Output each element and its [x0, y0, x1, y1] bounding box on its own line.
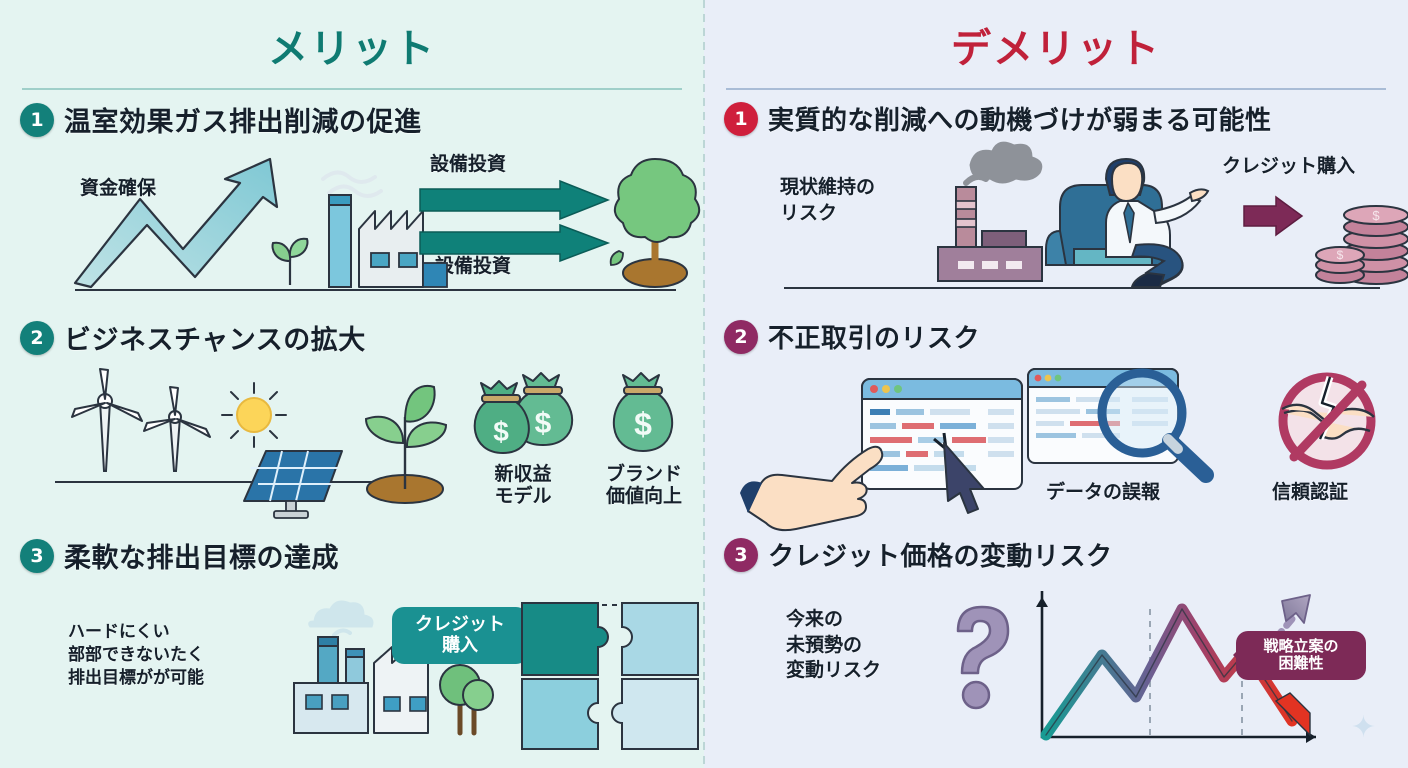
question-mark-icon	[948, 603, 1018, 711]
arrow-right-icon	[420, 225, 610, 261]
label-brand-line2: 価値向上	[582, 485, 706, 507]
svg-text:$: $	[535, 407, 552, 440]
label-volatility-line2: 未預勢の	[786, 633, 881, 659]
svg-text:$: $	[493, 416, 509, 447]
sparkle-icon: ✦	[1351, 710, 1376, 745]
bubble-nib	[1225, 647, 1241, 663]
demerit-item-3: 3 クレジット価格の変動リスク 今来の 未預勢の 変動リスク	[724, 536, 1390, 759]
panel-title-merit: メリット	[0, 16, 704, 74]
label-volatility-note: 今来の 未預勢の 変動リスク	[786, 607, 881, 684]
ground-line	[784, 287, 1380, 289]
demerit-item-2-badge: 2	[724, 320, 758, 354]
label-new-revenue: 新収益 モデル	[468, 463, 578, 508]
tree-icon	[605, 153, 705, 289]
demerit-item-2-head: 2 不正取引のリスク	[724, 318, 1390, 355]
svg-text:$: $	[1337, 248, 1344, 262]
merit-item-2-title: ビジネスチャンスの拡大	[64, 318, 366, 357]
demerit-item-3-head: 3 クレジット価格の変動リスク	[724, 536, 1390, 573]
demerit-item-1-head: 1 実質的な削減への動機づけが弱まる可能性	[724, 100, 1390, 137]
label-status-quo-risk: 現状維持の リスク	[780, 175, 875, 226]
merit-panel: メリット 1 温室効果ガス排出削減の促進 資金確保 設備投資 設備投資	[0, 0, 704, 768]
plant-icon	[350, 381, 460, 505]
label-flexible-line2: 部部できないたく	[68, 644, 204, 667]
demerit-item-3-title: クレジット価格の変動リスク	[768, 536, 1113, 573]
demerit-item-1: 1 実質的な削減への動機づけが弱まる可能性 現状維持の リスク クレジット購入	[724, 100, 1390, 293]
sprout-icon	[267, 231, 313, 287]
demerit-item-2-title: 不正取引のリスク	[768, 318, 980, 355]
panel-title-demerit: デメリット	[704, 16, 1408, 74]
label-volatility-line1: 今来の	[786, 607, 881, 633]
demerit-item-3-illustration: 今来の 未預勢の 変動リスク	[724, 579, 1390, 759]
arrow-right-icon	[1244, 195, 1304, 237]
puzzle-piece-icon	[520, 601, 700, 751]
credit-purchase-line2: 購入	[404, 636, 516, 657]
smokestack-icon	[932, 143, 1062, 285]
arrow-right-icon	[420, 181, 610, 219]
merit-item-3-illustration: ハードにくい 部部できないたく 排出目標がが可能	[20, 581, 686, 761]
label-new-revenue-line1: 新収益	[468, 463, 578, 485]
label-status-quo-line2: リスク	[780, 201, 875, 227]
businessman-armchair-icon	[1044, 145, 1234, 287]
merit-item-2-head: 2 ビジネスチャンスの拡大	[20, 318, 686, 357]
merit-item-1-illustration: 資金確保 設備投資 設備投資	[20, 145, 686, 295]
wind-turbine-icon	[60, 371, 230, 475]
strategy-difficulty-line2: 困難性	[1246, 655, 1356, 672]
label-flexible-line1: ハードにくい	[68, 621, 204, 644]
demerit-item-1-badge: 1	[724, 102, 758, 136]
merit-item-3-title: 柔軟な排出目標の達成	[64, 536, 339, 575]
label-flexible-line3: 排出目標がが可能	[68, 667, 204, 690]
merit-item-1-head: 1 温室効果ガス排出削減の促進	[20, 100, 686, 139]
demerit-item-1-illustration: 現状維持の リスク クレジット購入	[724, 143, 1390, 293]
no-handshake-icon	[1272, 369, 1382, 479]
label-data-error: データの誤報	[1046, 481, 1160, 503]
factory-icon	[315, 159, 465, 289]
demerit-item-2-illustration: データの誤報 信頼認証	[724, 361, 1390, 531]
money-bag-icon: $ $	[472, 371, 582, 463]
money-bag-icon: $	[598, 371, 690, 463]
svg-text:$: $	[634, 406, 652, 442]
label-trust-auth: 信頼認証	[1272, 481, 1348, 503]
merit-item-3: 3 柔軟な排出目標の達成 ハードにくい 部部できないたく 排出目標がが可能	[20, 536, 686, 761]
demerit-item-2: 2 不正取引のリスク	[724, 318, 1390, 531]
label-new-revenue-line2: モデル	[468, 485, 578, 507]
label-credit-purchase: クレジット購入	[1222, 155, 1355, 177]
credit-purchase-line1: クレジット	[404, 615, 516, 636]
browser-window-icon	[748, 371, 1028, 521]
merit-item-3-badge: 3	[20, 539, 54, 573]
merit-item-1-badge: 1	[20, 103, 54, 137]
merit-item-2-illustration: $ $ $ 新収益 モデル ブランド 価	[20, 363, 686, 527]
strategy-difficulty-line1: 戦略立案の	[1246, 638, 1356, 655]
coin-stack-icon: $ $	[1316, 187, 1408, 287]
merit-item-1-title: 温室効果ガス排出削減の促進	[64, 100, 422, 139]
infographic-page: メリット 1 温室効果ガス排出削減の促進 資金確保 設備投資 設備投資	[0, 0, 1408, 768]
title-divider-left	[22, 88, 682, 90]
strategy-difficulty-bubble: 戦略立案の 困難性	[1236, 631, 1366, 680]
merit-item-3-head: 3 柔軟な排出目標の達成	[20, 536, 686, 575]
label-flexible-note: ハードにくい 部部できないたく 排出目標がが可能	[68, 621, 204, 690]
demerit-item-1-title: 実質的な削減への動機づけが弱まる可能性	[768, 100, 1272, 137]
credit-purchase-bubble: クレジット 購入	[392, 607, 528, 664]
merit-item-2: 2 ビジネスチャンスの拡大	[20, 318, 686, 527]
merit-item-2-badge: 2	[20, 321, 54, 355]
merit-item-1: 1 温室効果ガス排出削減の促進 資金確保 設備投資 設備投資	[20, 100, 686, 295]
title-divider-right	[726, 88, 1386, 90]
demerit-item-3-badge: 3	[724, 538, 758, 572]
solar-panel-icon	[238, 441, 348, 521]
magnifier-icon	[1024, 365, 1234, 485]
label-status-quo-line1: 現状維持の	[780, 175, 875, 201]
panel-divider	[703, 0, 705, 768]
label-brand-line1: ブランド	[582, 463, 706, 485]
demerit-panel: デメリット 1 実質的な削減への動機づけが弱まる可能性 現状維持の リスク クレ…	[704, 0, 1408, 768]
svg-text:$: $	[1372, 208, 1380, 223]
label-brand-value: ブランド 価値向上	[582, 463, 706, 508]
label-volatility-line3: 変動リスク	[786, 658, 881, 684]
